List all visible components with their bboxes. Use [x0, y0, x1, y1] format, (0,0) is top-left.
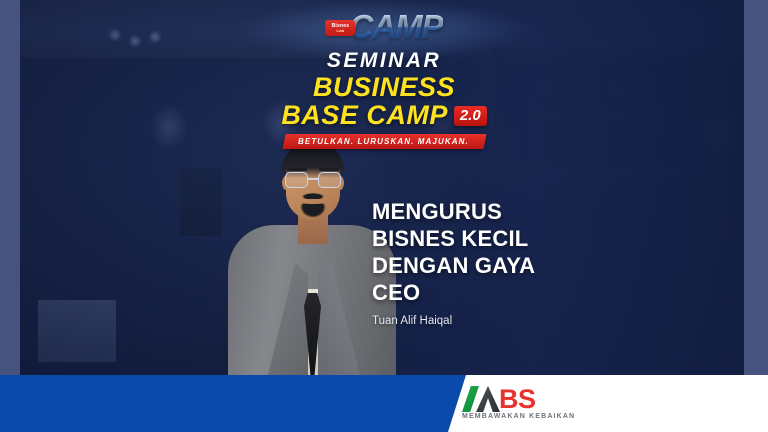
eyebrow-right	[319, 168, 339, 171]
camp-badge-line2: Lab	[337, 29, 345, 33]
session-title-line-2: BISNES KECIL	[372, 226, 528, 251]
camp-logo: Bisnes Lab CAMP	[325, 8, 442, 46]
green-slash-icon	[462, 386, 479, 412]
session-title-line-1: MENGURUS	[372, 199, 502, 224]
glasses-bridge	[308, 178, 318, 180]
abs-logo-letters: BS	[499, 387, 536, 412]
camp-logo-badge: Bisnes Lab	[325, 20, 355, 36]
eyebrow-left	[287, 168, 307, 171]
presentation-slide: Takeout: Impact Summarize the biggest im…	[0, 0, 768, 432]
letter-a-icon	[476, 386, 500, 412]
event-name-line-1: BUSINESS	[0, 73, 768, 101]
abs-logo-tagline: MEMBAWAKAN KEBAIKAN	[462, 413, 575, 420]
session-headline: MENGURUS BISNES KECIL DENGAN GAYA CEO Tu…	[372, 198, 702, 327]
eyeglasses-icon	[284, 172, 342, 188]
event-name-base-camp: BASE CAMP	[281, 101, 448, 129]
event-name-business: BUSINESS	[313, 73, 455, 101]
seminar-kicker: SEMINAR	[0, 49, 768, 73]
footer-bar: BS MEMBAWAKAN KEBAIKAN	[0, 375, 768, 432]
event-name-line-2: BASE CAMP 2.0	[0, 101, 768, 129]
abs-logo-mark: BS	[462, 385, 536, 412]
session-title-line-3: DENGAN GAYA	[372, 253, 535, 278]
session-title-line-4: CEO	[372, 280, 420, 305]
speaker-portrait	[228, 128, 396, 375]
speaker-name: Tuan Alif Haiqal	[372, 315, 702, 327]
camp-wordmark: CAMP	[349, 8, 442, 46]
version-badge: 2.0	[454, 106, 487, 126]
tagline-text: BETULKAN. LURUSKAN. MAJUKAN.	[298, 137, 469, 146]
event-title-lockup: Bisnes Lab CAMP SEMINAR BUSINESS BASE CA…	[0, 8, 768, 149]
tagline-ribbon: BETULKAN. LURUSKAN. MAJUKAN.	[282, 134, 486, 149]
goatee	[300, 204, 326, 218]
lens-left	[285, 172, 308, 188]
lens-right	[318, 172, 341, 188]
abs-logo: BS MEMBAWAKAN KEBAIKAN	[462, 385, 582, 425]
session-title: MENGURUS BISNES KECIL DENGAN GAYA CEO	[372, 198, 702, 306]
